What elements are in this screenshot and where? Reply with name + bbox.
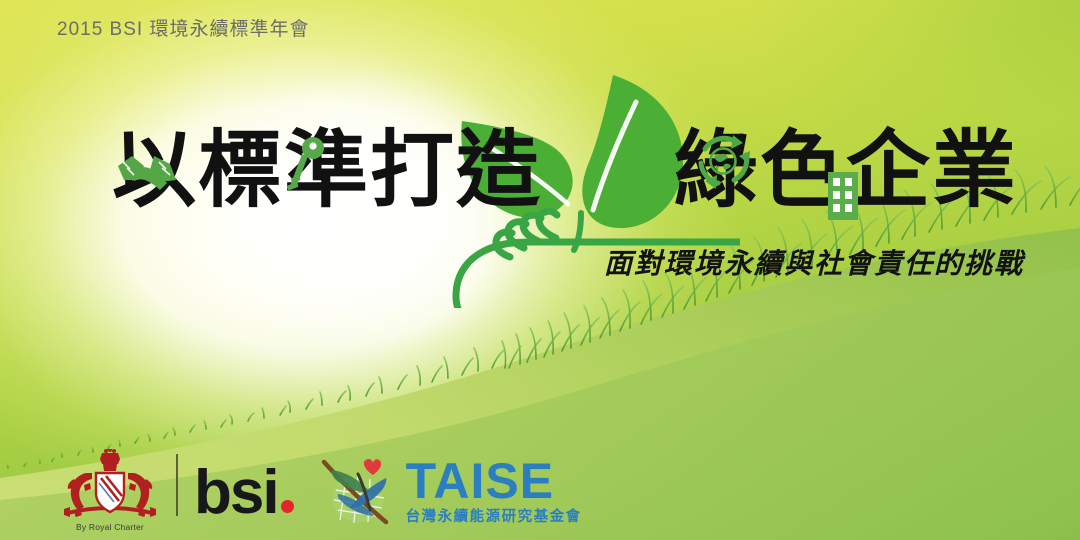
taise-text-block: TAISE 台灣永續能源研究基金會 xyxy=(406,458,582,526)
taise-subtitle: 台灣永續能源研究基金會 xyxy=(406,505,582,526)
bsi-crest-block: By Royal Charter xyxy=(58,449,162,532)
bsi-wordmark: bsi xyxy=(194,458,278,527)
event-subtitle: 面對環境永續與社會責任的挑戰 xyxy=(604,242,1024,282)
recycle-globe-icon xyxy=(692,131,754,191)
key-icon xyxy=(283,136,329,202)
event-header-title: 2015 BSI 環境永續標準年會 xyxy=(57,14,309,41)
handshake-icon xyxy=(114,146,184,208)
conference-banner: 2015 BSI 環境永續標準年會 以標準打造 xyxy=(0,0,1080,540)
dragonfly-mark-icon xyxy=(316,454,400,526)
large-leaf-icon xyxy=(582,75,683,228)
taise-wordmark: TAISE xyxy=(406,458,582,504)
royal-charter-label: By Royal Charter xyxy=(76,522,144,532)
bsi-logo: bsi xyxy=(194,462,294,524)
royal-coat-of-arms-icon xyxy=(62,449,158,521)
footer-logos: By Royal Charter bsi xyxy=(58,449,582,532)
taise-logo: TAISE 台灣永續能源研究基金會 xyxy=(316,454,582,526)
logo-divider xyxy=(176,454,178,516)
office-building-icon xyxy=(826,170,860,222)
bsi-red-dot xyxy=(281,500,294,513)
